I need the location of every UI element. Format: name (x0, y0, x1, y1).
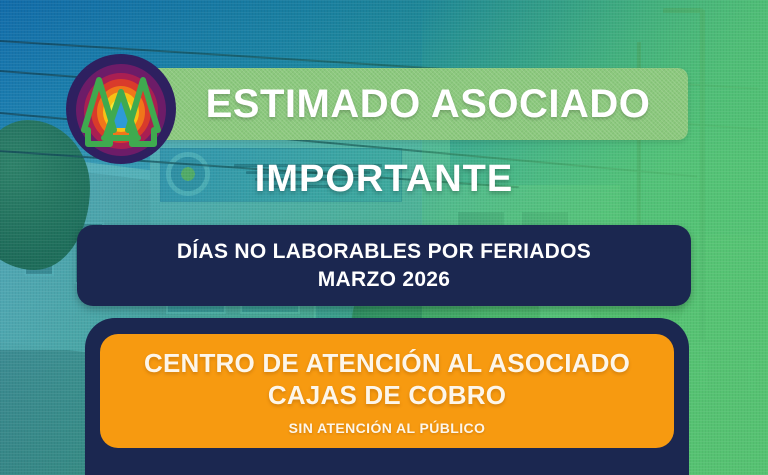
notice-line-2: MARZO 2026 (318, 266, 451, 294)
service-line-2: CAJAS DE COBRO (268, 379, 506, 411)
service-line-3: SIN ATENCIÓN AL PÚBLICO (289, 420, 486, 436)
mountain-pines-emblem-logo (64, 52, 178, 166)
logo-svg (64, 52, 178, 166)
service-box: CENTRO DE ATENCIÓN AL ASOCIADO CAJAS DE … (100, 334, 674, 448)
subtitle-importante: IMPORTANTE (0, 158, 768, 201)
service-line-1: CENTRO DE ATENCIÓN AL ASOCIADO (144, 347, 630, 379)
page-title: ESTIMADO ASOCIADO (178, 74, 678, 134)
poster-canvas: ESTIMADO ASOCIADO IMPORTANTE DÍAS NO LAB… (0, 0, 768, 475)
notice-line-1: DÍAS NO LABORABLES POR FERIADOS (177, 238, 591, 266)
notice-box: DÍAS NO LABORABLES POR FERIADOS MARZO 20… (77, 225, 691, 306)
